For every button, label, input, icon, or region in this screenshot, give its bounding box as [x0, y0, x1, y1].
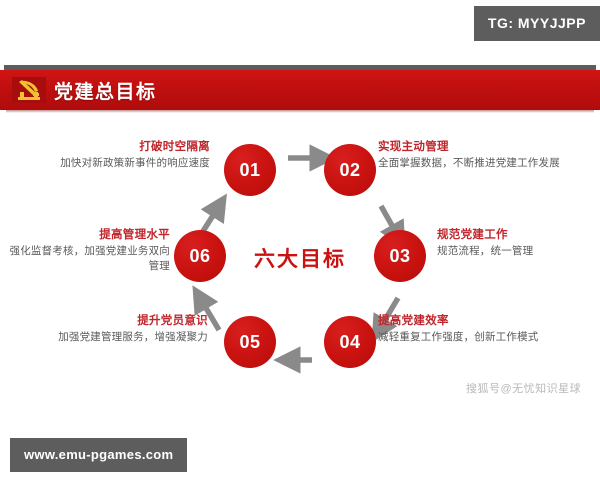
node-01[interactable]: 01: [224, 144, 276, 196]
banner-shadow: [6, 110, 594, 113]
goal-title-03: 规范党建工作: [437, 228, 597, 243]
goal-title-04: 提高党建效率: [378, 314, 578, 329]
node-02[interactable]: 02: [324, 144, 376, 196]
telegram-watermark: TG: MYYJJPP: [474, 6, 600, 41]
party-emblem-hammer-sickle-icon: [12, 77, 46, 103]
goal-title-01: 打破时空隔离: [20, 140, 210, 155]
title-banner: 党建总目标: [0, 65, 600, 113]
goal-desc-02: 全面掌握数据，不断推进党建工作发展: [378, 156, 593, 171]
goal-desc-05: 加强党建管理服务，增强凝聚力: [8, 330, 208, 345]
banner-title: 党建总目标: [54, 77, 157, 104]
goal-item-02: 实现主动管理 全面掌握数据，不断推进党建工作发展: [378, 140, 593, 171]
six-goals-diagram: 01 02 03 04 05 06 六大目标 打破时空隔离 加快对新政策新事件的…: [0, 118, 600, 388]
sohu-watermark: 搜狐号@无忧知识星球: [466, 380, 581, 396]
node-03[interactable]: 03: [374, 230, 426, 282]
goal-item-06: 提高管理水平 强化监督考核，加强党建业务双向管理: [0, 228, 170, 274]
goal-title-06: 提高管理水平: [0, 228, 170, 243]
diagram-center-label: 六大目标: [250, 243, 350, 273]
goal-desc-01: 加快对新政策新事件的响应速度: [20, 156, 210, 171]
node-06[interactable]: 06: [174, 230, 226, 282]
goal-desc-06: 强化监督考核，加强党建业务双向管理: [0, 244, 170, 274]
node-04[interactable]: 04: [324, 316, 376, 368]
goal-desc-04: 减轻重复工作强度，创新工作模式: [378, 330, 578, 345]
url-watermark: www.emu-pgames.com: [10, 438, 187, 472]
goal-item-05: 提升党员意识 加强党建管理服务，增强凝聚力: [8, 314, 208, 345]
goal-item-03: 规范党建工作 规范流程，统一管理: [437, 228, 597, 259]
goal-item-04: 提高党建效率 减轻重复工作强度，创新工作模式: [378, 314, 578, 345]
node-05[interactable]: 05: [224, 316, 276, 368]
goal-desc-03: 规范流程，统一管理: [437, 244, 597, 259]
goal-item-01: 打破时空隔离 加快对新政策新事件的响应速度: [20, 140, 210, 171]
goal-title-02: 实现主动管理: [378, 140, 593, 155]
goal-title-05: 提升党员意识: [8, 314, 208, 329]
